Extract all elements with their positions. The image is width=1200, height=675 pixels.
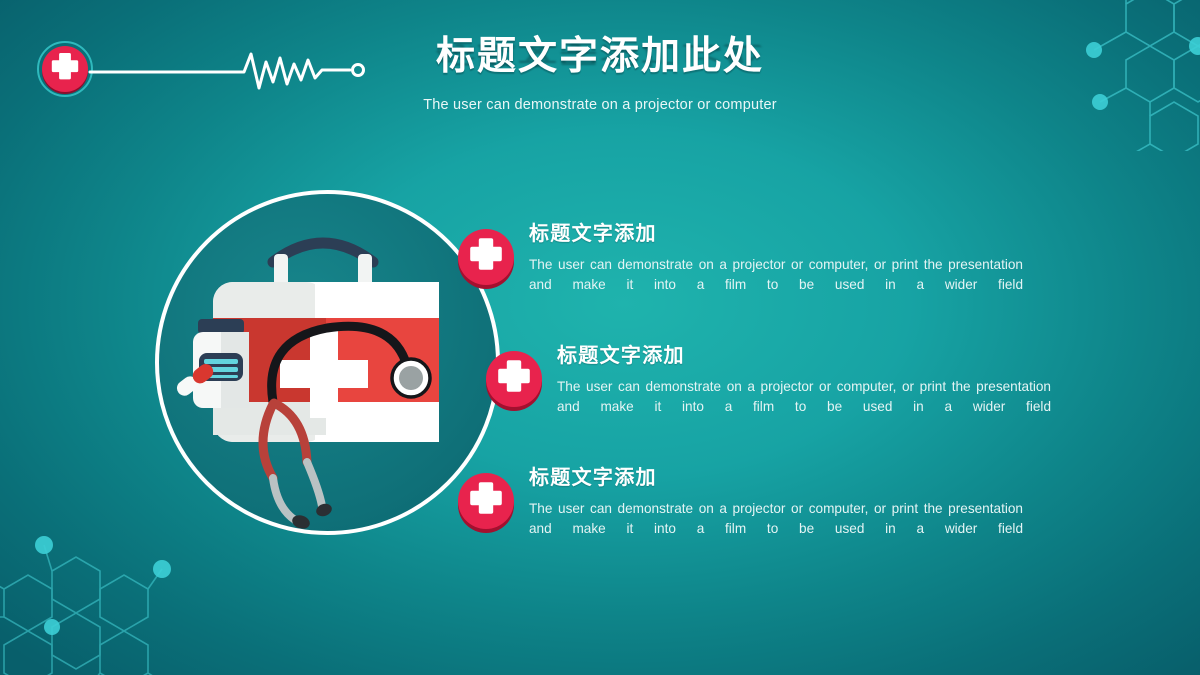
content-row[interactable]: 标题文字添加 The user can demonstrate on a pro… [455,222,1023,314]
content-row[interactable]: 标题文字添加 The user can demonstrate on a pro… [483,344,1051,436]
title-block: 标题文字添加此处 标题文字添加此处 The user can demonstra… [0,36,1200,113]
hexagon-lattice-bottom-left-icon [0,511,201,675]
page-subtitle: The user can demonstrate on a projector … [0,97,1200,113]
content-row-title: 标题文字添加 [557,344,1051,368]
content-row-text: 标题文字添加 The user can demonstrate on a pro… [529,222,1023,314]
content-row-title: 标题文字添加 [529,466,1023,490]
content-row-title: 标题文字添加 [529,222,1023,246]
content-row-body: The user can demonstrate on a projector … [557,377,1051,436]
medical-cross-badge-icon [483,348,545,412]
content-row-text: 标题文字添加 The user can demonstrate on a pro… [529,466,1023,558]
medical-cross-badge-icon [455,470,517,534]
content-row[interactable]: 标题文字添加 The user can demonstrate on a pro… [455,466,1023,558]
medicine-bottle [193,319,249,408]
content-row-body: The user can demonstrate on a projector … [529,499,1023,558]
illustration-artwork [155,190,500,535]
medical-cross-badge-icon [455,226,517,290]
content-row-body: The user can demonstrate on a projector … [529,255,1023,314]
slide-canvas: 标题文字添加此处 标题文字添加此处 The user can demonstra… [0,0,1200,675]
first-aid-kit-illustration [155,190,500,535]
content-row-text: 标题文字添加 The user can demonstrate on a pro… [557,344,1051,436]
page-title: 标题文字添加此处 [436,36,764,77]
